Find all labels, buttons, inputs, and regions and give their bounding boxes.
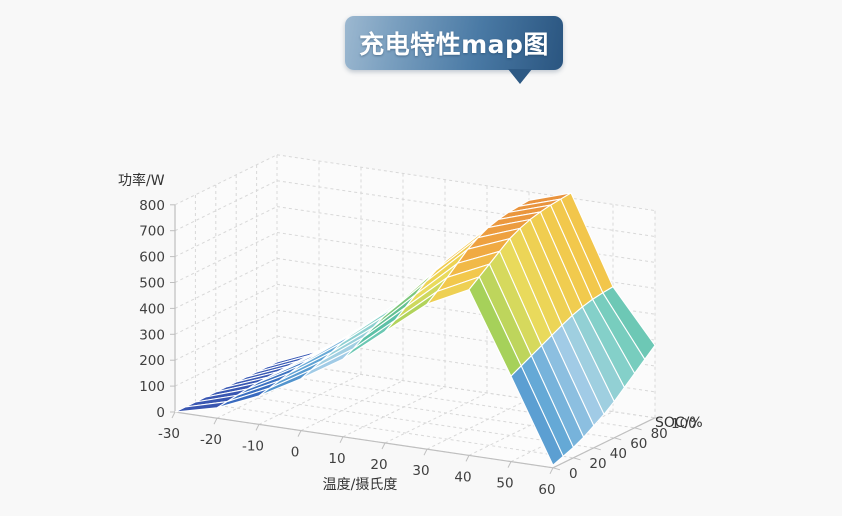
x-tick-label: 10 xyxy=(328,451,345,467)
soc-tick-label: 40 xyxy=(610,446,627,462)
x-tick-mark xyxy=(298,431,301,437)
soc-tick-mark xyxy=(614,438,621,440)
chart-title-text: 充电特性map图 xyxy=(359,25,549,61)
x-tick-mark xyxy=(382,443,385,449)
soc-tick-label: 20 xyxy=(589,456,606,472)
chart-title-bubble: 充电特性map图 xyxy=(345,16,563,70)
bubble-tail-icon xyxy=(508,69,532,84)
z-tick-label: 200 xyxy=(139,353,165,369)
soc-tick-mark xyxy=(573,458,580,460)
x-axis-title: 温度/摄氏度 xyxy=(323,477,398,493)
x-tick-label: -20 xyxy=(200,432,222,448)
x-tick-mark xyxy=(256,424,259,430)
z-tick-label: 400 xyxy=(139,301,165,317)
x-tick-label: -10 xyxy=(242,438,264,454)
z-tick-label: 700 xyxy=(139,224,165,240)
soc-tick-mark xyxy=(594,448,601,450)
z-axis-title: 功率/W xyxy=(118,172,165,189)
soc-tick-label: 0 xyxy=(569,466,578,482)
x-tick-label: 30 xyxy=(412,463,429,479)
x-tick-mark xyxy=(550,468,553,474)
z-tick-label: 300 xyxy=(139,327,165,343)
soc-tick-mark xyxy=(553,468,560,470)
x-tick-label: 0 xyxy=(291,445,300,461)
chart-container: 0100200300400500600700800功率/W-30-20-1001… xyxy=(0,0,842,516)
x-tick-mark xyxy=(172,412,175,418)
x-tick-label: 20 xyxy=(370,457,387,473)
soc-tick-mark xyxy=(635,428,642,430)
x-tick-mark xyxy=(466,455,469,461)
x-tick-mark xyxy=(340,437,343,443)
x-tick-mark xyxy=(214,418,217,424)
soc-tick-label: 60 xyxy=(630,436,647,452)
surface-plot-3d: 0100200300400500600700800功率/W-30-20-1001… xyxy=(0,0,842,516)
x-tick-label: 40 xyxy=(454,469,471,485)
z-tick-label: 600 xyxy=(139,250,165,266)
x-tick-label: 60 xyxy=(538,482,555,498)
z-tick-label: 800 xyxy=(139,198,165,214)
x-tick-label: 50 xyxy=(496,476,513,492)
x-tick-label: -30 xyxy=(158,426,180,442)
x-tick-mark xyxy=(508,462,511,468)
z-tick-label: 0 xyxy=(156,405,165,421)
z-tick-label: 500 xyxy=(139,276,165,292)
soc-axis-title: SOC/% xyxy=(655,415,703,431)
z-tick-label: 100 xyxy=(139,379,165,395)
x-tick-mark xyxy=(424,449,427,455)
